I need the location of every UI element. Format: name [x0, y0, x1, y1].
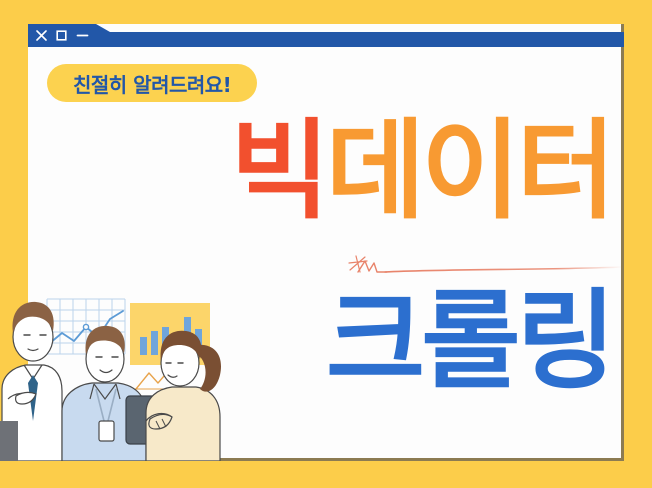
- minimize-icon[interactable]: [76, 30, 89, 41]
- headline-segment-data: 데이터: [326, 109, 612, 234]
- person-man-with-tie: [0, 302, 62, 461]
- headline-segment-big: 빅: [231, 109, 326, 234]
- tagline-badge: 친절히 알려드려요!: [47, 64, 257, 102]
- thumbnail-canvas: 친절히 알려드려요! 빅데이터 크롤링: [0, 0, 652, 488]
- headline-line-1: 빅데이터: [231, 118, 612, 226]
- hand-drawn-squiggle-icon: [325, 252, 625, 282]
- window-controls: [36, 24, 89, 47]
- people-illustration: [0, 271, 230, 461]
- maximize-icon[interactable]: [56, 30, 67, 41]
- tagline-badge-label: 친절히 알려드려요!: [73, 69, 231, 98]
- close-icon[interactable]: [36, 30, 47, 41]
- headline-line-2: 크롤링: [326, 288, 612, 396]
